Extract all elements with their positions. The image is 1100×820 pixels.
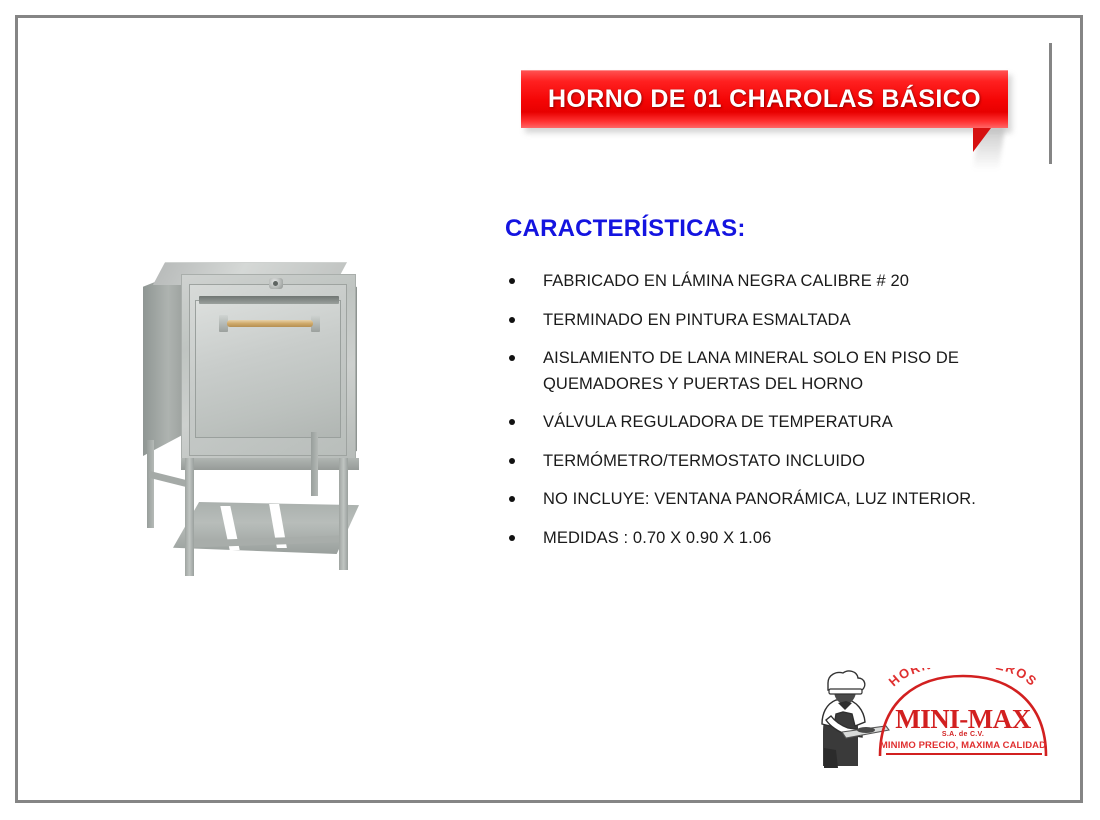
oven-door-slot	[199, 296, 339, 304]
logo-underline	[886, 753, 1042, 755]
bullet-icon	[509, 458, 515, 464]
company-logo: HORNOS Y ACEROS MINI-MAX S.A. de C.V. MI…	[812, 668, 1052, 772]
list-item: VÁLVULA REGULADORA DE TEMPERATURA	[505, 410, 1045, 436]
bullet-icon	[509, 278, 515, 284]
features-list: FABRICADO EN LÁMINA NEGRA CALIBRE # 20 T…	[505, 269, 1045, 552]
list-item-label: NO INCLUYE: VENTANA PANORÁMICA, LUZ INTE…	[543, 490, 976, 508]
bullet-icon	[509, 535, 515, 541]
list-item: FABRICADO EN LÁMINA NEGRA CALIBRE # 20	[505, 269, 1045, 295]
oven-leg-front-right	[339, 458, 348, 570]
oven-leg-back-right	[311, 432, 318, 496]
list-item-label: AISLAMIENTO DE LANA MINERAL SOLO EN PISO…	[543, 349, 959, 393]
vertical-divider-rule	[1049, 43, 1052, 164]
oven-leg-front-left	[185, 458, 194, 576]
list-item: TERMINADO EN PINTURA ESMALTADA	[505, 308, 1045, 334]
banner-tail-fold	[973, 128, 1009, 152]
list-item-label: MEDIDAS : 0.70 X 0.90 X 1.06	[543, 529, 771, 547]
list-item: AISLAMIENTO DE LANA MINERAL SOLO EN PISO…	[505, 346, 1045, 397]
bullet-icon	[509, 355, 515, 361]
banner-body: HORNO DE 01 CHAROLAS BÁSICO	[521, 70, 1008, 128]
oven-bottom-lip	[181, 458, 359, 470]
product-photo-oven	[143, 262, 393, 582]
logo-slogan: MINIMO PRECIO, MAXIMA CALIDAD	[864, 740, 1062, 751]
oven-thermometer-dial	[273, 281, 278, 286]
list-item-label: VÁLVULA REGULADORA DE TEMPERATURA	[543, 413, 893, 431]
features-heading: CARACTERÍSTICAS:	[505, 215, 1045, 243]
oven-leg-back-left	[147, 440, 154, 528]
list-item: TERMÓMETRO/TERMOSTATO INCLUIDO	[505, 449, 1045, 475]
oven-left-panel	[143, 270, 185, 456]
banner-title-text: HORNO DE 01 CHAROLAS BÁSICO	[548, 85, 981, 114]
list-item-label: FABRICADO EN LÁMINA NEGRA CALIBRE # 20	[543, 272, 909, 290]
features-section: CARACTERÍSTICAS: FABRICADO EN LÁMINA NEG…	[505, 215, 1045, 565]
list-item: NO INCLUYE: VENTANA PANORÁMICA, LUZ INTE…	[505, 487, 1045, 513]
list-item-label: TERMÓMETRO/TERMOSTATO INCLUIDO	[543, 452, 865, 470]
bullet-icon	[509, 419, 515, 425]
title-banner: HORNO DE 01 CHAROLAS BÁSICO	[521, 70, 1011, 150]
bullet-icon	[509, 317, 515, 323]
slide-canvas: HORNO DE 01 CHAROLAS BÁSICO CARACTERÍSTI…	[0, 0, 1100, 820]
list-item: MEDIDAS : 0.70 X 0.90 X 1.06	[505, 526, 1045, 552]
list-item-label: TERMINADO EN PINTURA ESMALTADA	[543, 311, 851, 329]
logo-entity-type: S.A. de C.V.	[874, 731, 1052, 738]
bullet-icon	[509, 496, 515, 502]
oven-handle-bar	[227, 320, 313, 327]
